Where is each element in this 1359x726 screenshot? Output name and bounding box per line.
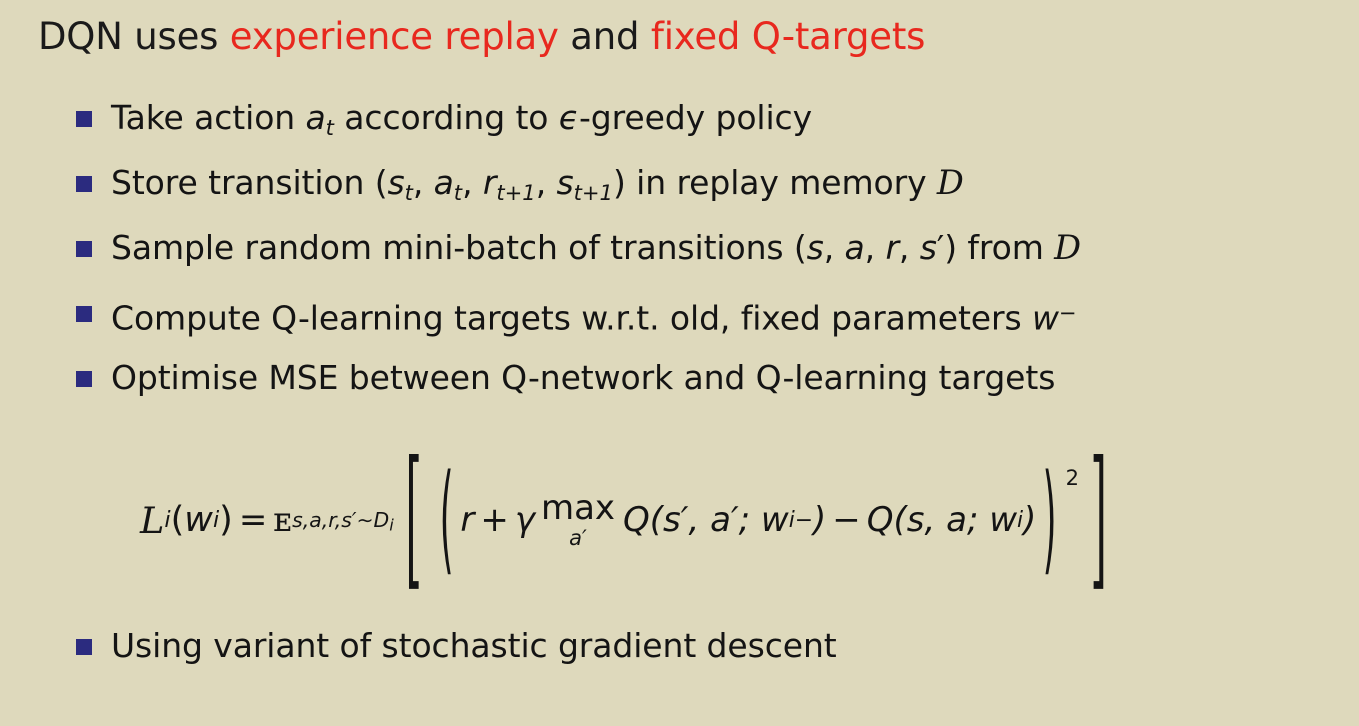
list-item-label: Store transition (st, at, rt+1, st+1) in…: [111, 161, 964, 215]
list-item-label: Take action at according to ϵ-greedy pol…: [111, 96, 812, 150]
expectation-subscript-vars: s,a,r,s′∼D: [292, 508, 389, 532]
script-d-symbol: D: [1054, 228, 1081, 267]
bullet-2-tuple-open: (: [375, 163, 388, 202]
title-segment-highlight-2: fixed Q-targets: [651, 15, 925, 58]
q-target-term: Q(s′, a′; wi−): [623, 500, 826, 540]
bullet-3-term-3: r: [885, 228, 898, 267]
max-label: max: [541, 491, 615, 525]
plus-sign: +: [474, 500, 515, 540]
list-item: Take action at according to ϵ-greedy pol…: [76, 96, 1346, 161]
paren-close: ): [1043, 461, 1057, 580]
list-item-label: Sample random mini-batch of transitions …: [111, 226, 1081, 270]
equation-left-hand-side: Li(wi): [140, 499, 233, 542]
expectation-subscript-index: i: [389, 515, 394, 534]
bullet-1-prefix: Take action: [111, 98, 306, 137]
square-bullet-icon: [76, 371, 92, 387]
bullet-3-term-4: s: [920, 228, 937, 267]
bullet-3-prefix: Sample random mini-batch of transitions: [111, 228, 794, 267]
bullet-3-tuple-open: (: [794, 228, 807, 267]
list-item-label: Using variant of stochastic gradient des…: [111, 624, 837, 668]
bullet-2-term-2: a: [434, 163, 454, 202]
square-bullet-icon: [76, 306, 92, 322]
bullet-3-term-2: a: [845, 228, 865, 267]
loss-arg-close: ): [219, 500, 233, 540]
bullet-4-variable-superscript: −: [1059, 300, 1077, 325]
title-segment-plain-2: and: [559, 15, 651, 58]
q-target-close: ): [813, 500, 826, 540]
square-bullet-icon: [76, 111, 92, 127]
bullet-3-mid: from: [957, 228, 1054, 267]
q-target-superscript: −: [795, 508, 813, 533]
bullet-2-prefix: Store transition: [111, 163, 375, 202]
bullet-2-term-4-subscript: t+1: [574, 180, 613, 205]
bullet-1-suffix: -greedy policy: [579, 98, 812, 137]
bullet-2-term-1: s: [388, 163, 405, 202]
presentation-slide: DQN uses experience replay and fixed Q-t…: [0, 0, 1359, 726]
bullet-3-term-1: s: [807, 228, 824, 267]
reward-symbol: r: [460, 500, 474, 540]
minus-sign: −: [826, 500, 867, 540]
bullet-1-mid: according to: [334, 98, 559, 137]
exponent-two: 2: [1066, 440, 1079, 490]
paren-open: (: [440, 461, 454, 580]
bullet-2-term-4: s: [557, 163, 574, 202]
equals-sign: =: [233, 500, 274, 540]
bullet-2-tuple-close: ): [613, 163, 626, 202]
max-operator: max a′: [541, 491, 615, 549]
title-segment-plain-1: DQN uses: [38, 15, 230, 58]
bullet-2-mid: in replay memory: [626, 163, 937, 202]
bullet-4-prefix: Compute Q-learning targets w.r.t. old, f…: [111, 299, 1032, 338]
q-online-close: ): [1023, 500, 1036, 540]
max-subscript: a′: [569, 528, 587, 549]
bullet-1-variable-subscript: t: [326, 115, 334, 140]
expectation-subscript: s,a,r,s′∼Di: [292, 508, 394, 540]
page-title: DQN uses experience replay and fixed Q-t…: [38, 16, 925, 57]
bullet-1-variable: a: [306, 98, 326, 137]
q-online-term: Q(s, a; wi): [867, 500, 1037, 540]
bullet-2-term-2-subscript: t: [454, 180, 462, 205]
list-item: Sample random mini-batch of transitions …: [76, 226, 1346, 291]
bullet-4-variable: w: [1032, 299, 1059, 338]
list-item-label: Optimise MSE between Q-network and Q-lea…: [111, 356, 1055, 400]
loss-symbol: L: [140, 499, 164, 542]
loss-arg-variable: w: [184, 500, 213, 540]
square-bullet-icon: [76, 639, 92, 655]
bracket-open: [: [405, 444, 422, 595]
bracket-close: ]: [1090, 444, 1107, 595]
loss-function-equation: Li(wi) = ᴇs,a,r,s′∼Di [ ( r + γ max a′ Q…: [140, 440, 1118, 600]
bullet-2-term-1-subscript: t: [405, 180, 413, 205]
square-bullet-icon: [76, 241, 92, 257]
bullet-2-term-3-subscript: t+1: [496, 180, 535, 205]
q-online-head: Q(s, a; w: [867, 500, 1017, 540]
bullet-3-tuple-close: ): [944, 228, 957, 267]
list-item: Using variant of stochastic gradient des…: [76, 624, 837, 668]
script-d-symbol: D: [937, 163, 964, 202]
expectation-operator: ᴇs,a,r,s′∼Di: [273, 500, 393, 540]
list-item: Store transition (st, at, rt+1, st+1) in…: [76, 161, 1346, 226]
epsilon-symbol: ϵ: [559, 98, 579, 137]
list-item: Compute Q-learning targets w.r.t. old, f…: [76, 291, 1346, 356]
bullet-2-term-3: r: [483, 163, 496, 202]
list-item-label: Compute Q-learning targets w.r.t. old, f…: [111, 291, 1076, 341]
loss-arg-open: (: [171, 500, 185, 540]
expectation-symbol: ᴇ: [273, 500, 292, 540]
bullet-list: Take action at according to ϵ-greedy pol…: [76, 96, 1346, 421]
q-target-head: Q(s′, a′; w: [623, 500, 789, 540]
gamma-symbol: γ: [515, 500, 535, 540]
title-segment-highlight-1: experience replay: [230, 15, 559, 58]
list-item: Optimise MSE between Q-network and Q-lea…: [76, 356, 1346, 421]
square-bullet-icon: [76, 176, 92, 192]
